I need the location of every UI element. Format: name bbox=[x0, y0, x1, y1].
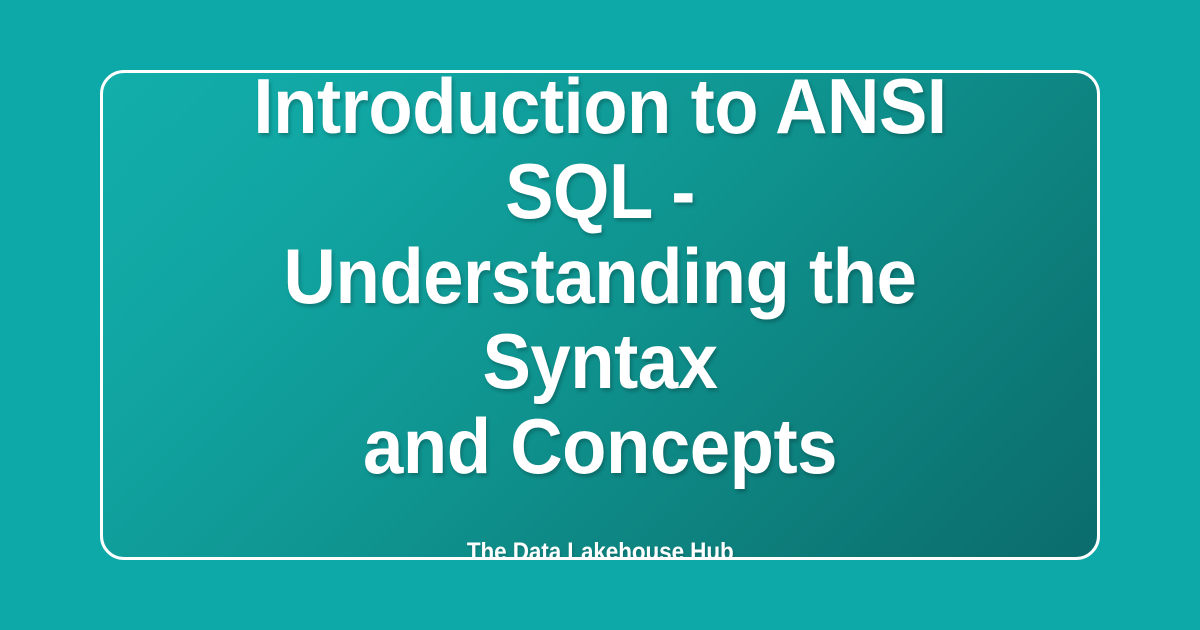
hero-card-content: Introduction to ANSI SQL - Understanding… bbox=[103, 70, 1097, 560]
hero-card: Introduction to ANSI SQL - Understanding… bbox=[100, 70, 1100, 560]
page-title: Introduction to ANSI SQL - Understanding… bbox=[172, 70, 1028, 489]
site-name-subtitle: The Data Lakehouse Hub bbox=[467, 537, 734, 561]
og-image-canvas: Introduction to ANSI SQL - Understanding… bbox=[0, 0, 1200, 630]
